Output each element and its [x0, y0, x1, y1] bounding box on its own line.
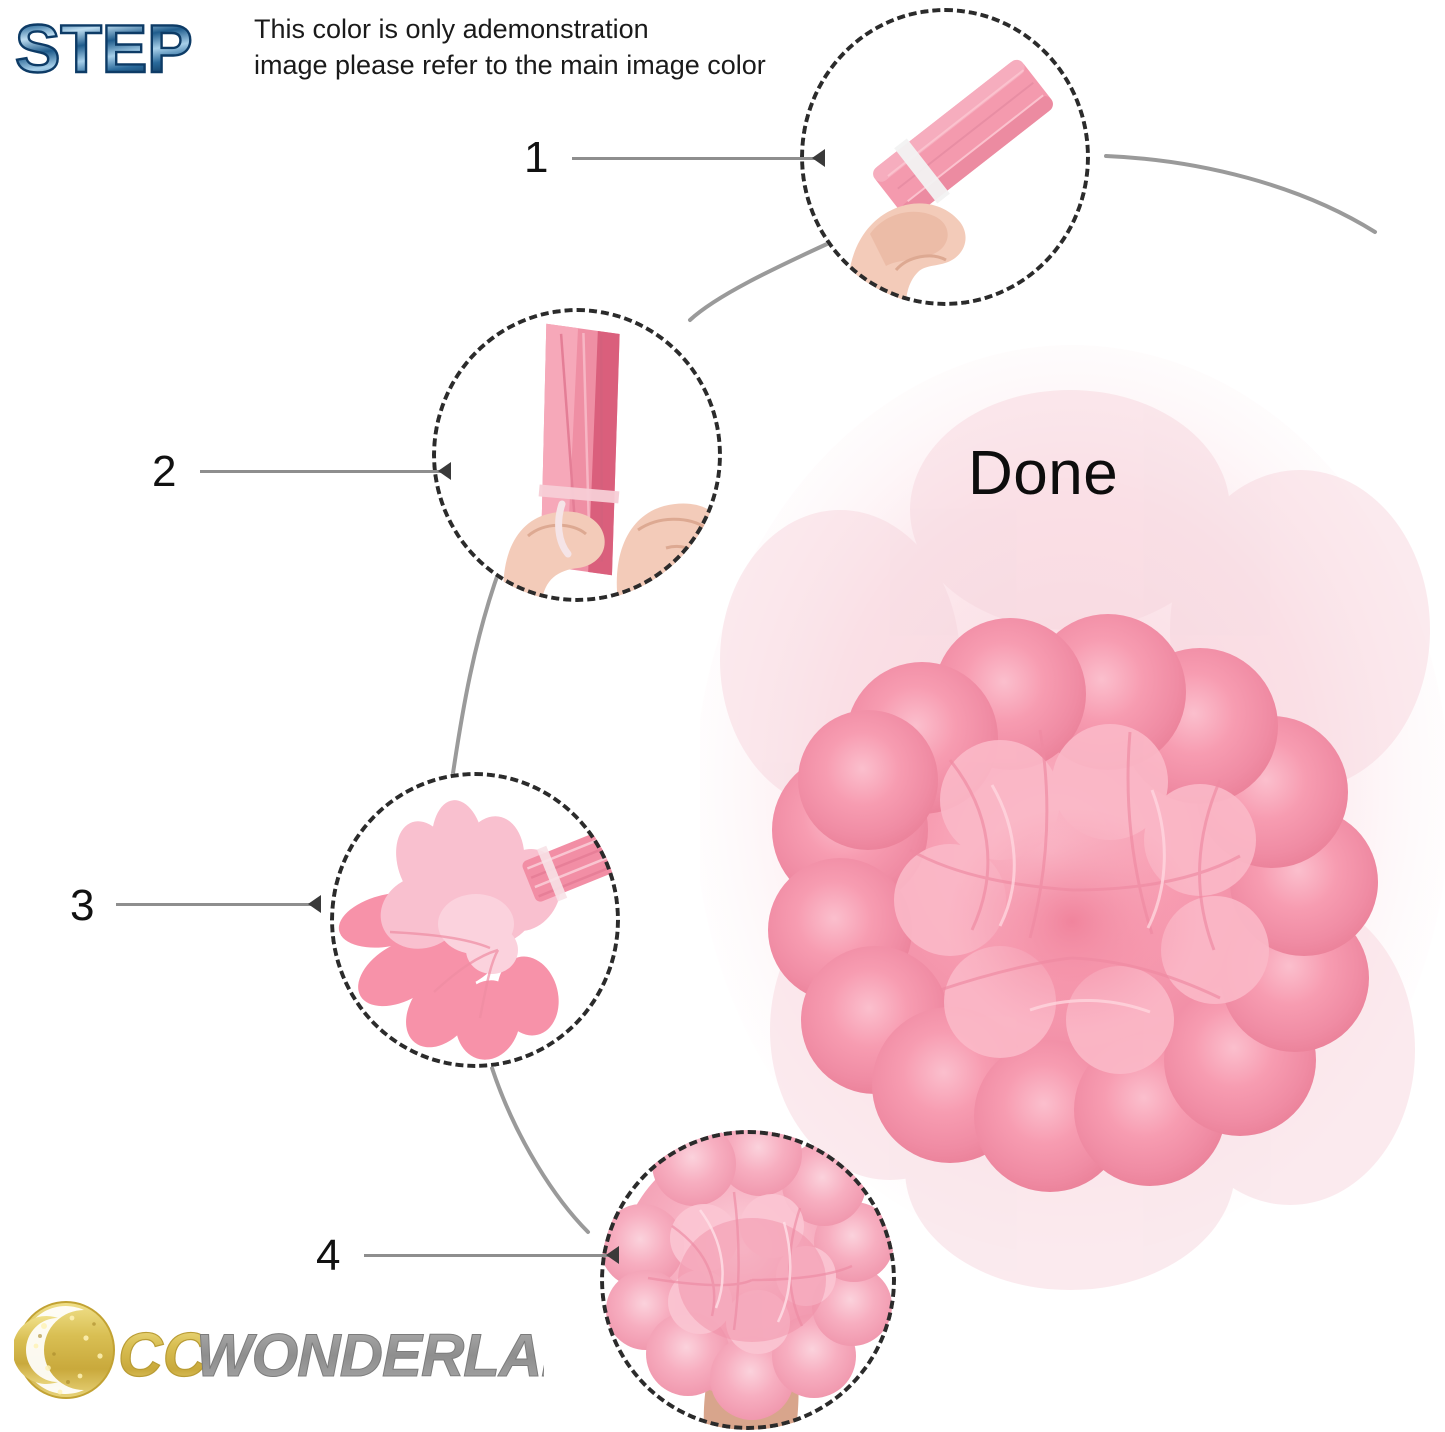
step-1-circle [800, 8, 1090, 306]
step-3-leader-line [116, 903, 318, 906]
step-4-number: 4 [316, 1234, 340, 1278]
step-1-number: 1 [524, 136, 548, 180]
connector-curve-right-of-step1 [1106, 156, 1375, 232]
step-2-leader-line [200, 470, 448, 473]
step-2-number: 2 [152, 450, 176, 494]
step-4-circle [600, 1130, 896, 1430]
step-4-leader-arrow [606, 1246, 619, 1264]
done-label: Done [968, 438, 1118, 509]
header-note-line-2: image please refer to the main image col… [254, 48, 834, 84]
step-1-photo [800, 8, 1090, 306]
step-logo-text: STEP [15, 11, 193, 87]
header-note-line-1: This color is only ademonstration [254, 12, 834, 48]
connector-curve-step2-to-step3 [452, 568, 500, 780]
connector-curve-step3-to-step4 [492, 1068, 588, 1232]
step-1-leader-arrow [812, 149, 825, 167]
header-note: This color is only ademonstration image … [254, 12, 834, 83]
step-3-photo [330, 772, 620, 1068]
step-3-number: 3 [70, 884, 94, 928]
step-4-leader-line [364, 1254, 616, 1257]
step-2-photo [432, 308, 722, 602]
brand-logo: CC WONDERLAND [14, 1292, 544, 1410]
brand-name-text: WONDERLAND [196, 1322, 544, 1389]
step-2-leader-arrow [438, 462, 451, 480]
step-4-photo [600, 1130, 896, 1430]
connector-curve-step1-to-step2 [690, 238, 840, 320]
step-1-leader-line [572, 157, 822, 160]
step-3-leader-arrow [308, 895, 321, 913]
crescent-moon-icon [14, 1302, 114, 1398]
step-2-circle [432, 308, 722, 602]
step-logo: STEP [12, 6, 242, 90]
instructional-infographic: Done STEP This color is only ademonstrat… [0, 0, 1445, 1432]
step-3-circle [330, 772, 620, 1068]
